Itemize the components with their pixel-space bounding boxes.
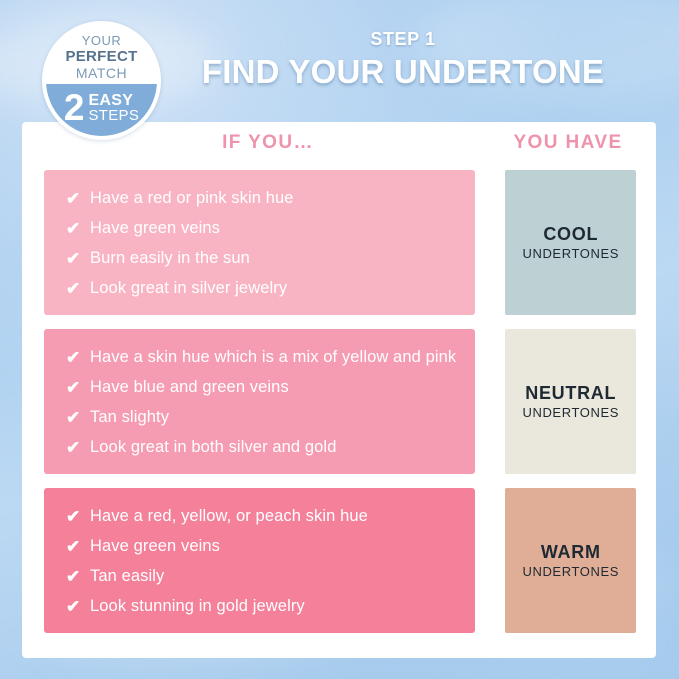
undertone-sublabel: UNDERTONES <box>522 563 619 580</box>
undertone-row-warm: ✔ Have a red, yellow, or peach skin hue … <box>44 488 636 633</box>
check-icon: ✔ <box>64 346 90 370</box>
undertone-sublabel: UNDERTONES <box>522 245 619 262</box>
undertone-name: NEUTRAL <box>525 382 616 404</box>
badge-top-half: YOUR PERFECT MATCH <box>46 25 157 84</box>
badge-line-match: MATCH <box>76 65 127 81</box>
page-title: FIND YOUR UNDERTONE <box>168 52 638 92</box>
badge-line-steps: STEPS <box>88 108 139 123</box>
trait-item: ✔ Have blue and green veins <box>64 376 457 400</box>
trait-text: Look stunning in gold jewelry <box>90 595 305 618</box>
badge-bottom-half: 2 EASY STEPS <box>46 84 157 136</box>
trait-item: ✔ Look great in silver jewelry <box>64 277 457 301</box>
page-header: STEP 1 FIND YOUR UNDERTONE <box>168 28 638 92</box>
trait-text: Tan slighty <box>90 406 169 429</box>
trait-text: Have a skin hue which is a mix of yellow… <box>90 346 456 369</box>
check-icon: ✔ <box>64 376 90 400</box>
check-icon: ✔ <box>64 436 90 460</box>
check-icon: ✔ <box>64 505 90 529</box>
trait-item: ✔ Have green veins <box>64 535 457 559</box>
undertone-row-neutral: ✔ Have a skin hue which is a mix of yell… <box>44 329 636 474</box>
trait-text: Have a red, yellow, or peach skin hue <box>90 505 368 528</box>
check-icon: ✔ <box>64 595 90 619</box>
step-label: STEP 1 <box>168 28 638 50</box>
undertone-name: WARM <box>541 541 601 563</box>
trait-item: ✔ Have a skin hue which is a mix of yell… <box>64 346 457 370</box>
undertone-swatch-cool: COOL UNDERTONES <box>505 170 636 315</box>
undertone-name: COOL <box>543 223 598 245</box>
badge-step-number: 2 <box>64 89 85 126</box>
check-icon: ✔ <box>64 277 90 301</box>
check-icon: ✔ <box>64 217 90 241</box>
traits-list-cool: ✔ Have a red or pink skin hue ✔ Have gre… <box>44 170 475 315</box>
trait-text: Have a red or pink skin hue <box>90 187 294 210</box>
trait-text: Have blue and green veins <box>90 376 289 399</box>
perfect-match-badge: YOUR PERFECT MATCH 2 EASY STEPS <box>42 21 161 140</box>
undertone-swatch-neutral: NEUTRAL UNDERTONES <box>505 329 636 474</box>
check-icon: ✔ <box>64 187 90 211</box>
trait-item: ✔ Look great in both silver and gold <box>64 436 457 460</box>
undertone-swatch-warm: WARM UNDERTONES <box>505 488 636 633</box>
trait-text: Tan easily <box>90 565 164 588</box>
trait-text: Look great in silver jewelry <box>90 277 287 300</box>
undertone-sublabel: UNDERTONES <box>522 404 619 421</box>
badge-steps-text: EASY STEPS <box>88 93 139 123</box>
check-icon: ✔ <box>64 406 90 430</box>
traits-list-warm: ✔ Have a red, yellow, or peach skin hue … <box>44 488 475 633</box>
check-icon: ✔ <box>64 565 90 589</box>
badge-line-your: YOUR <box>82 33 122 48</box>
trait-text: Have green veins <box>90 217 220 240</box>
column-header-you-have: YOU HAVE <box>500 132 636 154</box>
content-card: IF YOU… YOU HAVE ✔ Have a red or pink sk… <box>22 122 656 658</box>
check-icon: ✔ <box>64 247 90 271</box>
trait-item: ✔ Look stunning in gold jewelry <box>64 595 457 619</box>
traits-list-neutral: ✔ Have a skin hue which is a mix of yell… <box>44 329 475 474</box>
trait-item: ✔ Tan easily <box>64 565 457 589</box>
trait-item: ✔ Have a red, yellow, or peach skin hue <box>64 505 457 529</box>
trait-item: ✔ Have green veins <box>64 217 457 241</box>
badge-line-perfect: PERFECT <box>65 48 137 65</box>
trait-text: Burn easily in the sun <box>90 247 250 270</box>
check-icon: ✔ <box>64 535 90 559</box>
trait-item: ✔ Burn easily in the sun <box>64 247 457 271</box>
trait-text: Look great in both silver and gold <box>90 436 336 459</box>
trait-item: ✔ Have a red or pink skin hue <box>64 187 457 211</box>
trait-text: Have green veins <box>90 535 220 558</box>
undertone-row-cool: ✔ Have a red or pink skin hue ✔ Have gre… <box>44 170 636 315</box>
trait-item: ✔ Tan slighty <box>64 406 457 430</box>
badge-line-easy: EASY <box>88 93 139 108</box>
